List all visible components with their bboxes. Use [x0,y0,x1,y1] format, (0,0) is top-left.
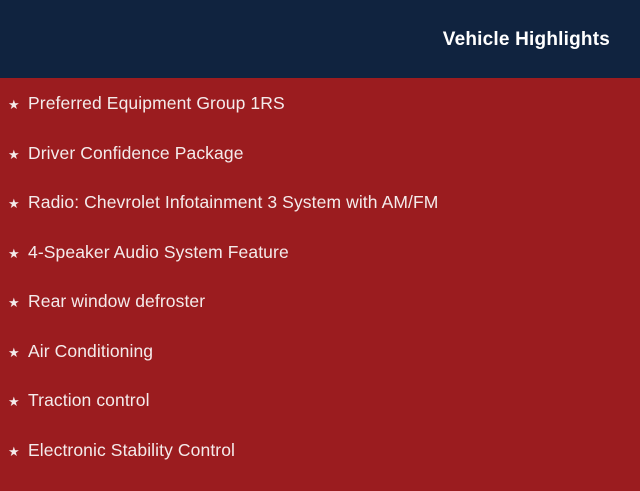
star-icon: ★ [8,395,28,408]
star-icon: ★ [8,197,28,210]
list-item: ★ Air Conditioning [0,343,640,393]
star-icon: ★ [8,247,28,260]
list-item: ★ Driver Confidence Package [0,145,640,195]
list-item-label: Air Conditioning [28,343,153,361]
page-title: Vehicle Highlights [443,30,610,49]
vehicle-highlights-list: ★ Preferred Equipment Group 1RS ★ Driver… [0,78,640,491]
vehicle-highlights-slide: Vehicle Highlights ★ Preferred Equipment… [0,0,640,480]
star-icon: ★ [8,296,28,309]
star-icon: ★ [8,148,28,161]
list-item-label: Traction control [28,392,150,410]
list-item: ★ Preferred Equipment Group 1RS [0,95,640,145]
list-item-label: Radio: Chevrolet Infotainment 3 System w… [28,194,438,212]
list-item: ★ Radio: Chevrolet Infotainment 3 System… [0,194,640,244]
star-icon: ★ [8,445,28,458]
list-item-label: Preferred Equipment Group 1RS [28,95,285,113]
list-item: ★ Rear window defroster [0,293,640,343]
slide-header: Vehicle Highlights [0,0,640,78]
list-item: ★ Traction control [0,392,640,442]
list-item: ★ 4-Speaker Audio System Feature [0,244,640,294]
star-icon: ★ [8,346,28,359]
list-item-label: Rear window defroster [28,293,205,311]
star-icon: ★ [8,98,28,111]
list-item: ★ Electronic Stability Control [0,442,640,491]
list-item-label: 4-Speaker Audio System Feature [28,244,289,262]
list-item-label: Driver Confidence Package [28,145,244,163]
list-item-label: Electronic Stability Control [28,442,235,460]
